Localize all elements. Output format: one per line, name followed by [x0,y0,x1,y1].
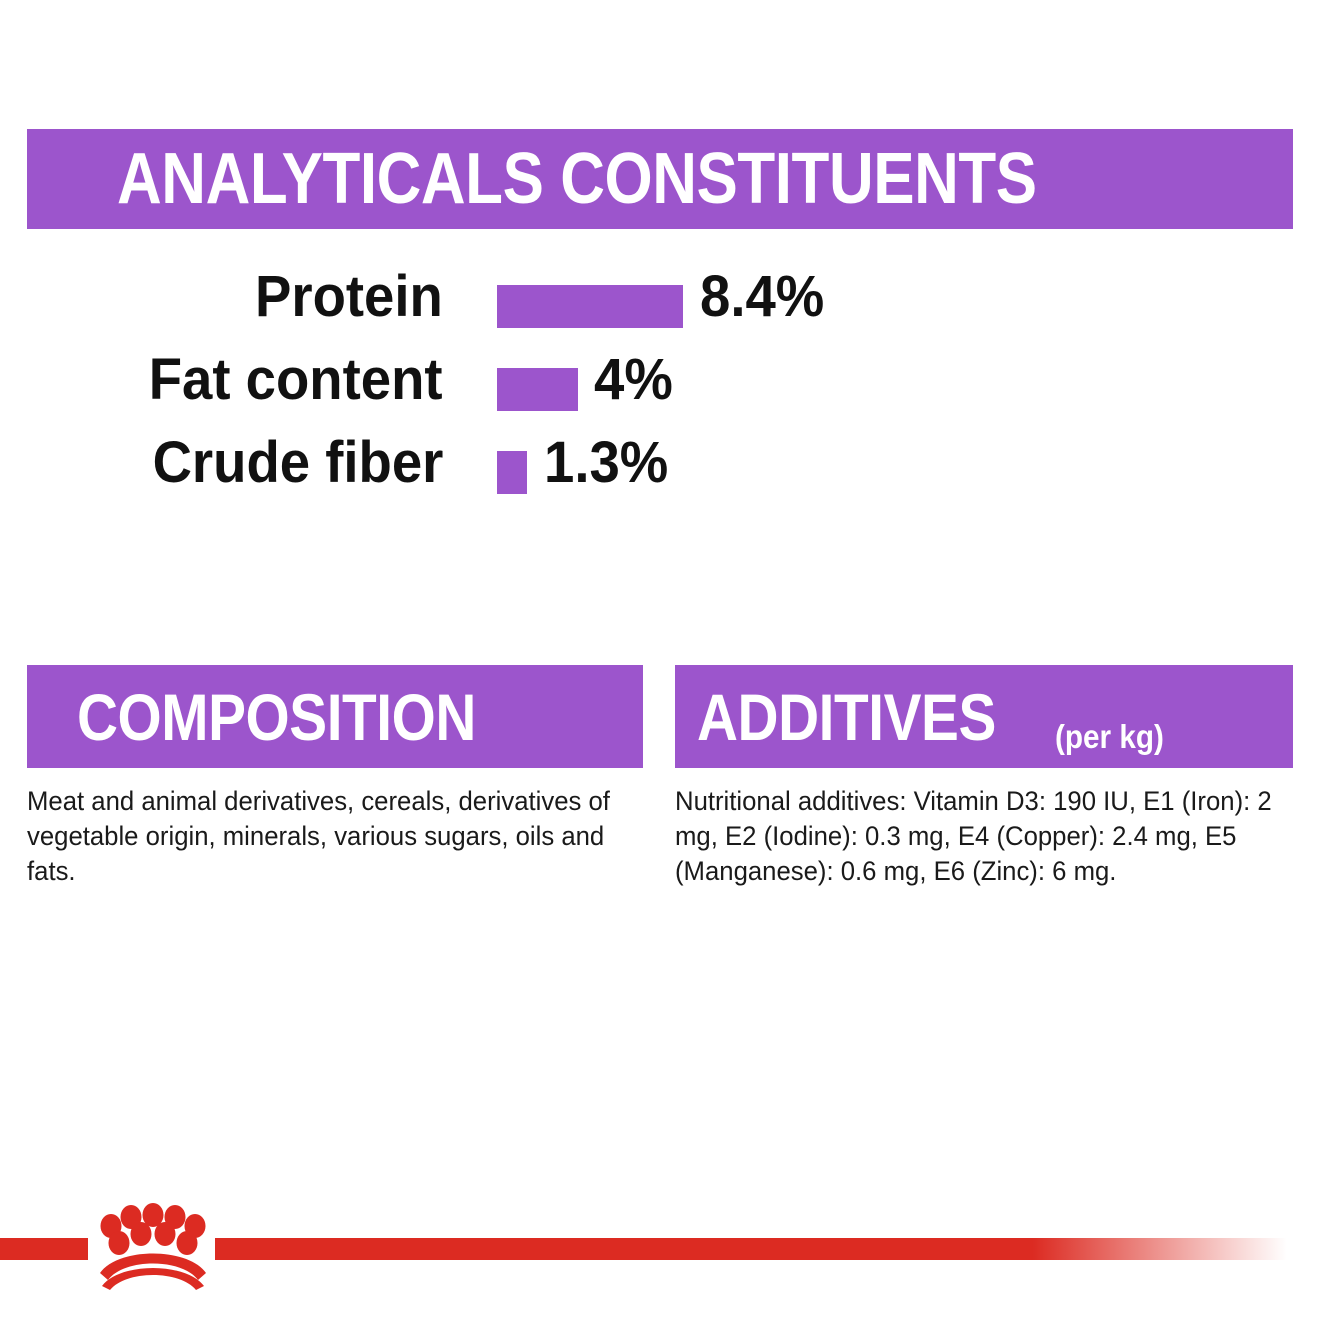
constituent-bar [497,285,683,328]
footer-rule-left [0,1238,88,1260]
constituent-label: Fat content [149,351,443,409]
footer-rule-right [215,1238,1320,1260]
constituent-row: Protein 8.4% [0,268,1320,351]
additives-title-group: ADDITIVES (per kg) [697,684,1176,750]
section-header-additives: ADDITIVES (per kg) [675,665,1293,768]
footer [0,1200,1320,1320]
composition-text: Meat and animal derivatives, cereals, de… [27,784,633,889]
composition-title: COMPOSITION [77,684,476,750]
analyticals-chart: Protein 8.4% Fat content 4% Crude fiber … [0,268,1320,517]
constituent-value: 4% [594,351,673,409]
constituent-bar [497,368,578,411]
analyticals-title: ANALYTICALS CONSTITUENTS [117,143,1037,215]
additives-title: ADDITIVES [697,684,996,750]
royal-canin-crown-icon [88,1200,218,1290]
additives-text: Nutritional additives: Vitamin D3: 190 I… [675,784,1288,889]
constituent-label: Crude fiber [152,434,443,492]
section-header-composition: COMPOSITION [27,665,643,768]
constituent-bar [497,451,527,494]
nutrition-panel: ANALYTICALS CONSTITUENTS Protein 8.4% Fa… [0,0,1320,1320]
constituent-value: 1.3% [544,434,668,492]
constituent-value: 8.4% [700,268,824,326]
additives-subtitle: (per kg) [1055,720,1164,753]
constituent-row: Fat content 4% [0,351,1320,434]
constituent-label: Protein [255,268,443,326]
section-header-analyticals: ANALYTICALS CONSTITUENTS [27,129,1293,229]
constituent-row: Crude fiber 1.3% [0,434,1320,517]
